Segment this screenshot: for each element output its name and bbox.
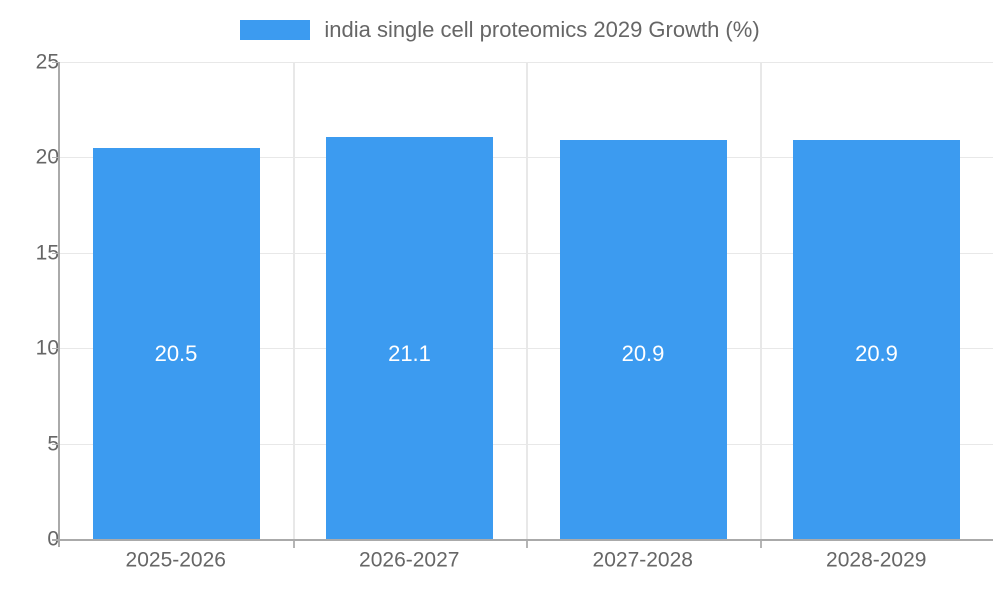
x-tick-label-2025-2026: 2025-2026: [59, 550, 293, 571]
y-tick-label-5: 5: [0, 433, 59, 454]
chart-legend: india single cell proteomics 2029 Growth…: [0, 12, 1000, 48]
bar-2027-2028[interactable]: 20.9: [560, 140, 727, 539]
y-tick-label-0: 0: [0, 529, 59, 550]
bar-2028-2029[interactable]: 20.9: [793, 140, 960, 539]
gridline-x-3: [760, 62, 762, 539]
bar-value-label-2028-2029: 20.9: [793, 343, 960, 365]
y-axis-line: [58, 62, 60, 547]
gridline-x-1: [293, 62, 295, 539]
x-tick-label-2027-2028: 2027-2028: [526, 550, 760, 571]
x-axis-line: [52, 539, 993, 541]
legend-item-series-1[interactable]: india single cell proteomics 2029 Growth…: [240, 19, 759, 41]
bar-chart: india single cell proteomics 2029 Growth…: [0, 0, 1000, 600]
y-tick-label-20: 20: [0, 147, 59, 168]
gridline-x-2: [526, 62, 528, 539]
x-tick-label-2028-2029: 2028-2029: [760, 550, 994, 571]
bar-value-label-2027-2028: 20.9: [560, 343, 727, 365]
y-tick-label-25: 25: [0, 52, 59, 73]
bar-value-label-2026-2027: 21.1: [326, 343, 493, 365]
legend-label: india single cell proteomics 2029 Growth…: [324, 19, 759, 41]
plot-area: 20.5 21.1 20.9 20.9: [59, 62, 993, 539]
legend-swatch-icon: [240, 20, 310, 40]
x-tick-label-2026-2027: 2026-2027: [293, 550, 527, 571]
bar-value-label-2025-2026: 20.5: [93, 343, 260, 365]
y-tick-label-10: 10: [0, 338, 59, 359]
bar-2026-2027[interactable]: 21.1: [326, 137, 493, 540]
bar-2025-2026[interactable]: 20.5: [93, 148, 260, 539]
y-tick-label-15: 15: [0, 242, 59, 263]
